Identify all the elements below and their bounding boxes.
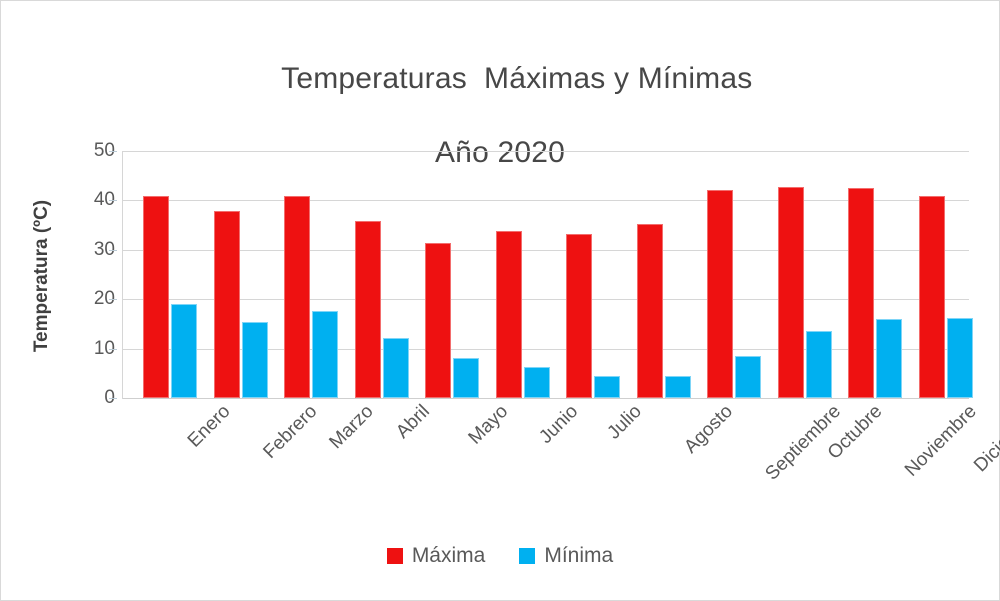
bar-maxima[interactable]: [778, 187, 804, 398]
legend-swatch-minima: [519, 548, 535, 564]
bar-group: [828, 151, 899, 398]
y-axis-tick: [109, 349, 117, 350]
legend-item-maxima[interactable]: Máxima: [387, 544, 486, 568]
bar-group: [123, 151, 194, 398]
y-axis-tick: [109, 250, 117, 251]
x-axis-tick-label: Agosto: [680, 401, 737, 458]
x-axis-tick-label: Enero: [184, 401, 235, 452]
y-axis-tick-label: 40: [61, 189, 115, 211]
bar-maxima[interactable]: [848, 188, 874, 398]
chart-title-line1: Temperaturas Máximas y Mínimas: [281, 62, 752, 95]
bar-group: [758, 151, 829, 398]
bar-maxima[interactable]: [284, 196, 310, 398]
legend-swatch-maxima: [387, 548, 403, 564]
bar-maxima[interactable]: [355, 221, 381, 398]
gridline: [123, 398, 969, 399]
y-axis-tick: [109, 299, 117, 300]
x-axis-tick-label: Julio: [603, 401, 646, 444]
bar-minima[interactable]: [947, 318, 973, 398]
y-axis-tick: [109, 200, 117, 201]
chart-legend: Máxima Mínima: [1, 544, 999, 568]
y-axis-tick-label: 30: [61, 239, 115, 261]
bar-maxima[interactable]: [214, 211, 240, 398]
legend-label-maxima: Máxima: [412, 544, 486, 568]
x-axis-tick-label: Febrero: [259, 401, 322, 464]
y-axis-tick-label: 10: [61, 338, 115, 360]
x-axis-tick-label: Abril: [392, 401, 434, 443]
bar-maxima[interactable]: [143, 196, 169, 398]
bar-group: [546, 151, 617, 398]
bar-maxima[interactable]: [425, 243, 451, 398]
bar-group: [335, 151, 406, 398]
bar-maxima[interactable]: [637, 224, 663, 398]
legend-label-minima: Mínima: [544, 544, 613, 568]
bar-group: [405, 151, 476, 398]
bar-maxima[interactable]: [707, 190, 733, 398]
y-axis-tick: [109, 398, 117, 399]
y-axis-tick: [109, 151, 117, 152]
bar-maxima[interactable]: [496, 231, 522, 398]
bar-maxima[interactable]: [919, 196, 945, 398]
bar-group: [476, 151, 547, 398]
bar-group: [617, 151, 688, 398]
bar-group: [264, 151, 335, 398]
bar-group: [899, 151, 970, 398]
x-axis-tick-label: Noviembre: [901, 401, 982, 482]
x-axis-tick-labels: EneroFebreroMarzoAbrilMayoJunioJulioAgos…: [123, 401, 969, 511]
y-axis-tick-label: 50: [61, 140, 115, 162]
bar-group: [194, 151, 265, 398]
legend-item-minima[interactable]: Mínima: [519, 544, 613, 568]
chart-container: Temperaturas Máximas y Mínimas Año 2020 …: [0, 0, 1000, 601]
y-axis-title: Temperatura (ºC): [31, 151, 55, 401]
plot-area: [123, 151, 969, 398]
y-axis-tick-label: 0: [61, 387, 115, 409]
x-axis-tick-label: Marzo: [325, 401, 378, 454]
y-axis-tick-label: 20: [61, 288, 115, 310]
bar-maxima[interactable]: [566, 234, 592, 398]
x-axis-tick-label: Mayo: [465, 401, 513, 449]
y-axis-tick-labels: 01020304050: [61, 151, 115, 398]
bar-group: [687, 151, 758, 398]
x-axis-tick-label: Junio: [535, 401, 583, 449]
